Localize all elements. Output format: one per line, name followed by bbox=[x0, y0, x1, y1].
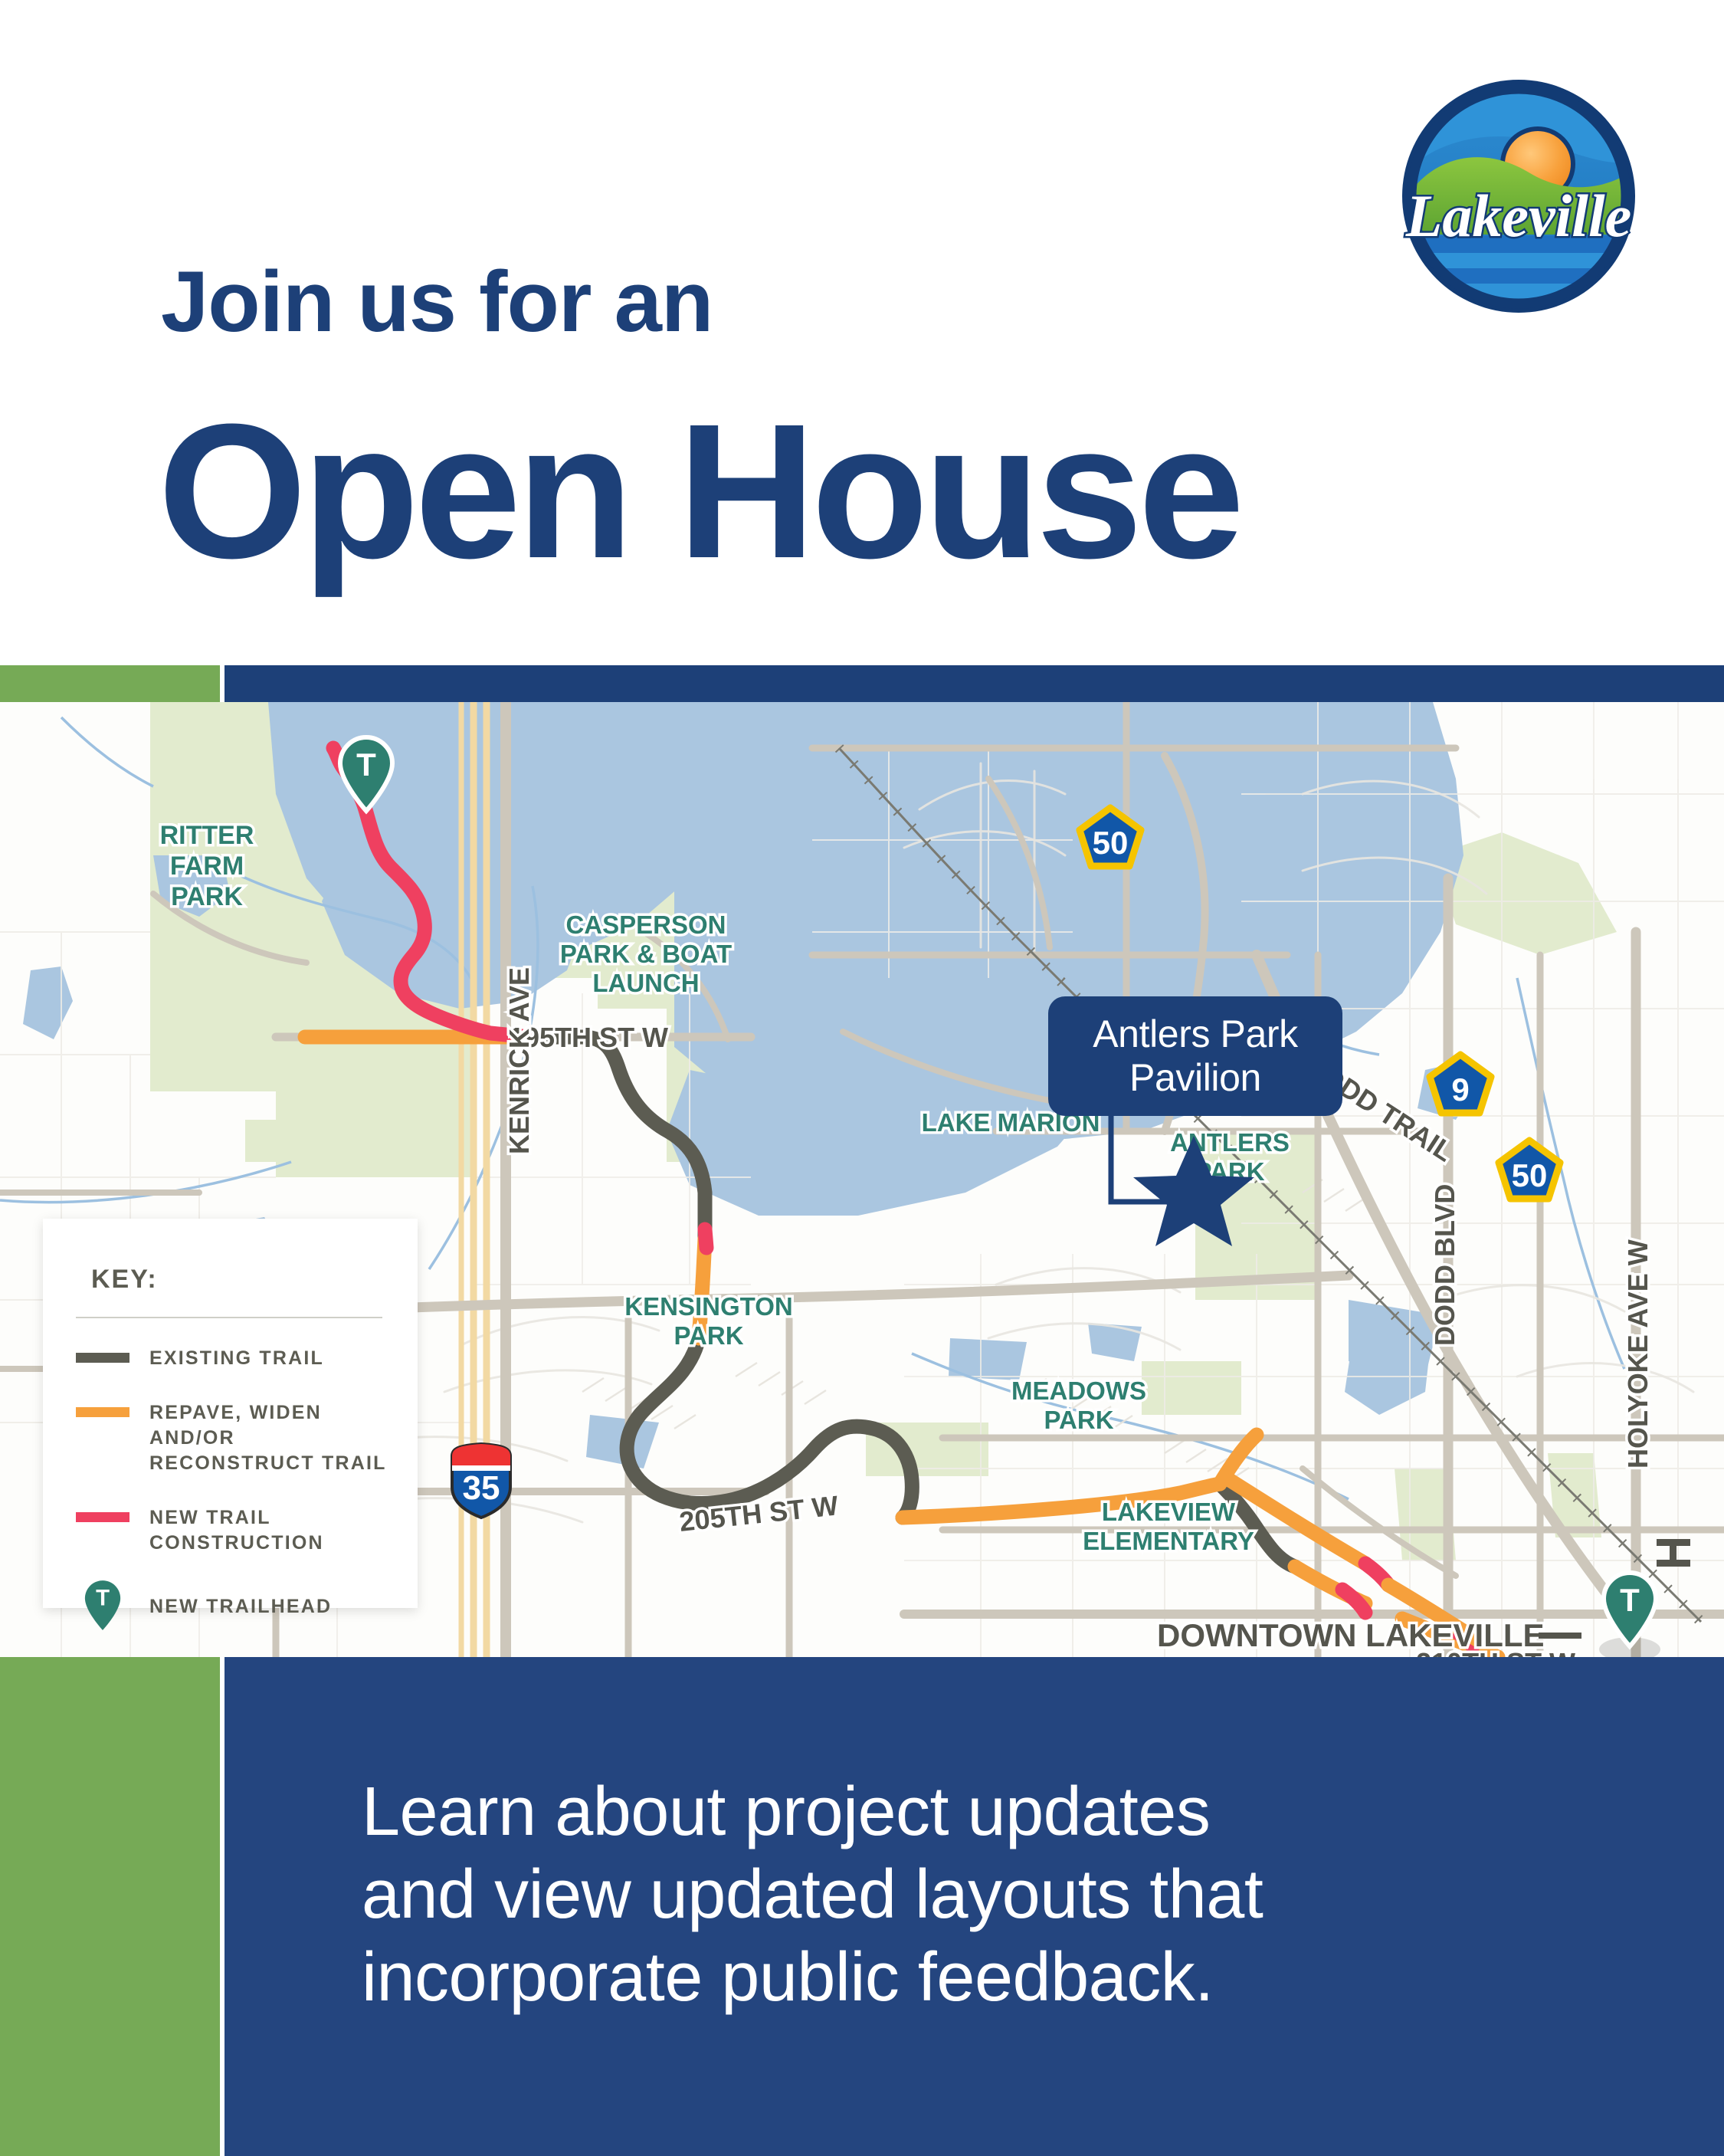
lakeville-logo: Lakeville bbox=[1396, 74, 1641, 319]
callout-line-2: Pavilion bbox=[1129, 1056, 1261, 1099]
map-legend: KEY: EXISTING TRAIL REPAVE, WIDEN AND/OR… bbox=[43, 1219, 418, 1608]
svg-text:9: 9 bbox=[1451, 1071, 1469, 1108]
legend-title: KEY: bbox=[91, 1265, 158, 1295]
legend-item-existing-trail: EXISTING TRAIL bbox=[76, 1346, 398, 1371]
legend-label-existing-trail: EXISTING TRAIL bbox=[149, 1346, 324, 1371]
map-label-casperson-1: CASPERSON bbox=[565, 911, 726, 939]
new-trail-swatch bbox=[76, 1512, 129, 1522]
legend-item-repave-trail: REPAVE, WIDEN AND/OR RECONSTRUCT TRAIL bbox=[76, 1400, 398, 1476]
footer-tagline: Learn about project updates and view upd… bbox=[362, 1770, 1511, 2019]
svg-text:DOWNTOWN LAKEVILLE: DOWNTOWN LAKEVILLE bbox=[1157, 1617, 1545, 1653]
map-label-dodd-blvd: DODD BLVD bbox=[1429, 1184, 1460, 1346]
map-label-holyoke-ave-w: HOLYOKE AVE W bbox=[1622, 1239, 1654, 1469]
top-navy-band bbox=[225, 665, 1724, 702]
page-title: Open House bbox=[158, 395, 1240, 587]
shield-i35: 35 bbox=[452, 1444, 510, 1518]
svg-text:35: 35 bbox=[463, 1469, 500, 1507]
legend-label-new-trail: NEW TRAIL CONSTRUCTION bbox=[149, 1505, 398, 1556]
legend-label-new-trailhead: NEW TRAILHEAD bbox=[149, 1594, 332, 1619]
map-label-kensington-2: PARK bbox=[674, 1321, 743, 1350]
svg-text:50: 50 bbox=[1093, 825, 1129, 861]
map-label-kensington-1: KENSINGTON bbox=[624, 1292, 792, 1321]
top-green-band bbox=[0, 665, 220, 702]
svg-text:T: T bbox=[96, 1586, 110, 1611]
map-label-meadows-2: PARK bbox=[1044, 1406, 1113, 1434]
trailhead-pin-downtown: T bbox=[1599, 1573, 1660, 1657]
logo-wordmark: Lakeville bbox=[1405, 182, 1632, 249]
map-label-lakeview-2: ELEMENTARY bbox=[1083, 1527, 1254, 1555]
map-label-kenrick-ave: KENRICK AVE bbox=[503, 967, 535, 1154]
antlers-park-pavilion-callout: Antlers Park Pavilion bbox=[1048, 996, 1342, 1116]
map-label-ritter-farm-park-2: FARM bbox=[170, 852, 244, 881]
legend-label-repave-trail: REPAVE, WIDEN AND/OR RECONSTRUCT TRAIL bbox=[149, 1400, 398, 1476]
bottom-green-panel bbox=[0, 1657, 220, 2156]
tagline-line-3: incorporate public feedback. bbox=[362, 1936, 1511, 2019]
svg-text:T: T bbox=[1620, 1582, 1640, 1618]
tagline-line-1: Learn about project updates bbox=[362, 1770, 1511, 1853]
flyer-page: Lakeville Join us for an Open House .par… bbox=[0, 0, 1724, 2156]
tagline-line-2: and view updated layouts that bbox=[362, 1853, 1511, 1936]
legend-item-new-trail: NEW TRAIL CONSTRUCTION bbox=[76, 1505, 398, 1556]
svg-text:50: 50 bbox=[1512, 1157, 1548, 1193]
map-label-casperson-3: LAUNCH bbox=[592, 969, 699, 997]
map-label-ritter-farm-park: RITTER bbox=[160, 821, 254, 850]
legend-item-new-trailhead: T NEW TRAILHEAD bbox=[76, 1585, 398, 1633]
existing-trail-swatch bbox=[76, 1353, 129, 1363]
map-label-ritter-farm-park-3: PARK bbox=[171, 882, 243, 911]
trailhead-pin-icon: T bbox=[76, 1576, 129, 1633]
page-kicker: Join us for an bbox=[161, 259, 713, 345]
legend-divider bbox=[76, 1317, 382, 1318]
map-label-lakeview-1: LAKEVIEW bbox=[1102, 1498, 1236, 1526]
repave-trail-swatch bbox=[76, 1407, 129, 1417]
svg-text:T: T bbox=[356, 747, 376, 783]
map-label-meadows-1: MEADOWS bbox=[1011, 1377, 1146, 1405]
map-label-downtown-lakeville: DOWNTOWN LAKEVILLE bbox=[1157, 1617, 1581, 1653]
map-label-casperson-2: PARK & BOAT bbox=[560, 940, 732, 968]
callout-line-1: Antlers Park bbox=[1093, 1012, 1298, 1055]
